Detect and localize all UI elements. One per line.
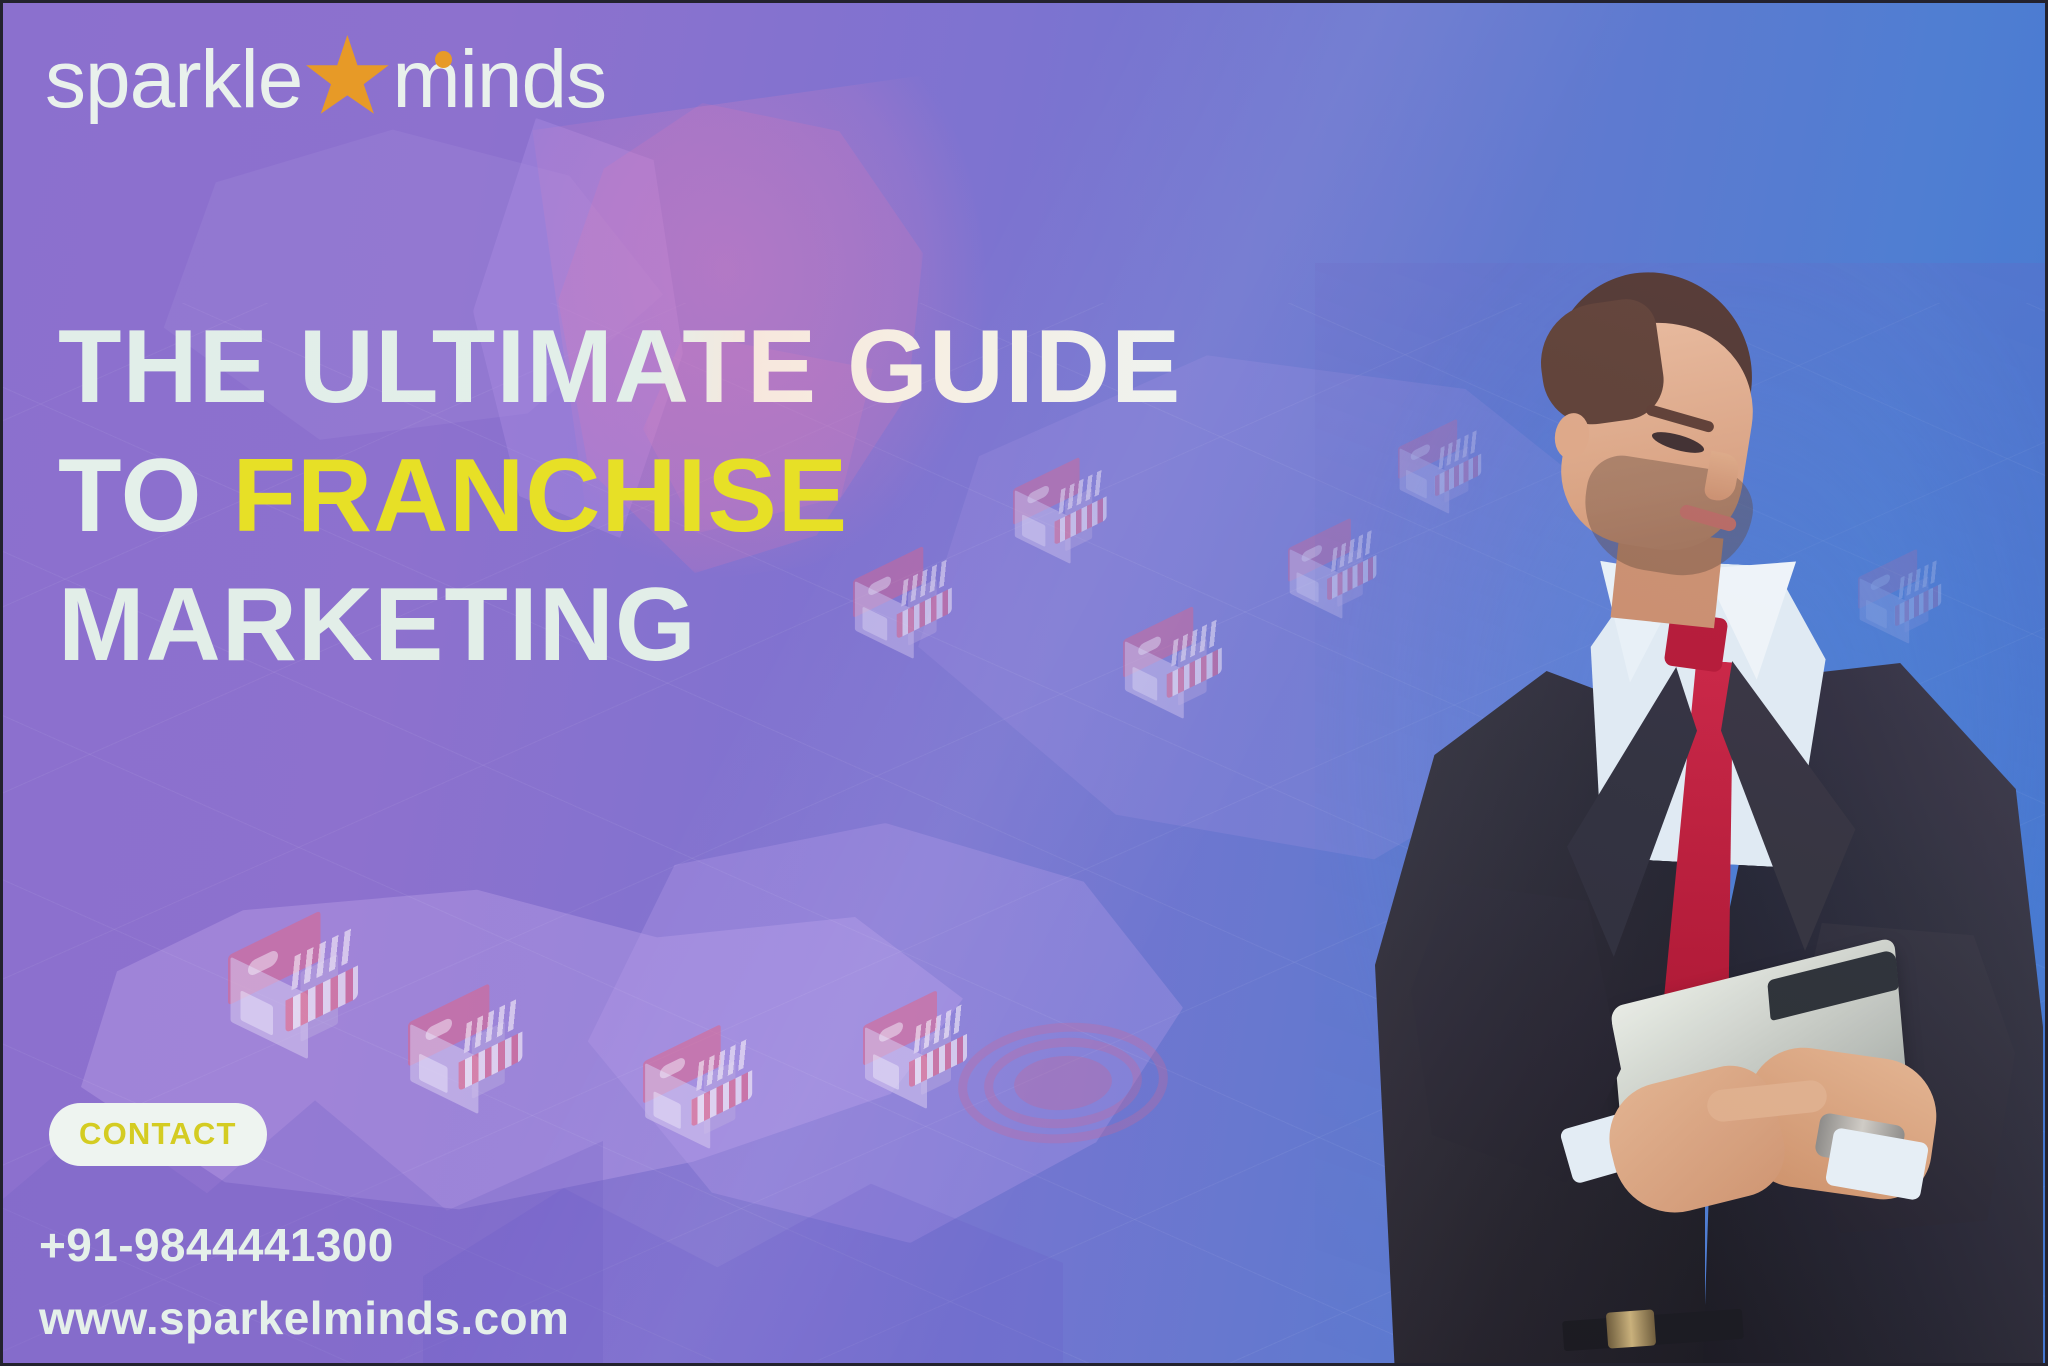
businessman-photo bbox=[1315, 263, 2048, 1363]
logo-minds-text: minds bbox=[392, 34, 606, 125]
star-icon bbox=[304, 35, 390, 121]
logo-word-minds: minds bbox=[392, 39, 606, 121]
contact-badge[interactable]: CONTACT bbox=[49, 1103, 267, 1166]
headline-line-3: MARKETING bbox=[58, 561, 1178, 690]
belt-buckle bbox=[1606, 1309, 1656, 1348]
headline-line-2: TO FRANCHISE bbox=[58, 432, 1178, 561]
contact-website[interactable]: www.sparkelminds.com bbox=[39, 1291, 569, 1345]
target-rings-icon bbox=[954, 1016, 1172, 1150]
headline-line-2-prefix: TO bbox=[58, 438, 232, 554]
isometric-map-icon bbox=[563, 823, 1183, 1243]
headline-line-1: THE ULTIMATE GUIDE bbox=[58, 303, 1178, 432]
headline-line-2-accent: FRANCHISE bbox=[232, 438, 848, 554]
isometric-map-icon bbox=[63, 883, 963, 1223]
franchise-marketing-banner: sparkle minds THE ULTIMATE GUIDE TO FRAN… bbox=[0, 0, 2048, 1366]
contact-badge-label: CONTACT bbox=[79, 1116, 237, 1151]
logo-word-sparkle: sparkle bbox=[45, 39, 302, 121]
brand-logo[interactable]: sparkle minds bbox=[45, 37, 606, 123]
contact-phone[interactable]: +91-9844441300 bbox=[39, 1218, 394, 1272]
headline-block: THE ULTIMATE GUIDE TO FRANCHISE MARKETIN… bbox=[58, 303, 1178, 690]
